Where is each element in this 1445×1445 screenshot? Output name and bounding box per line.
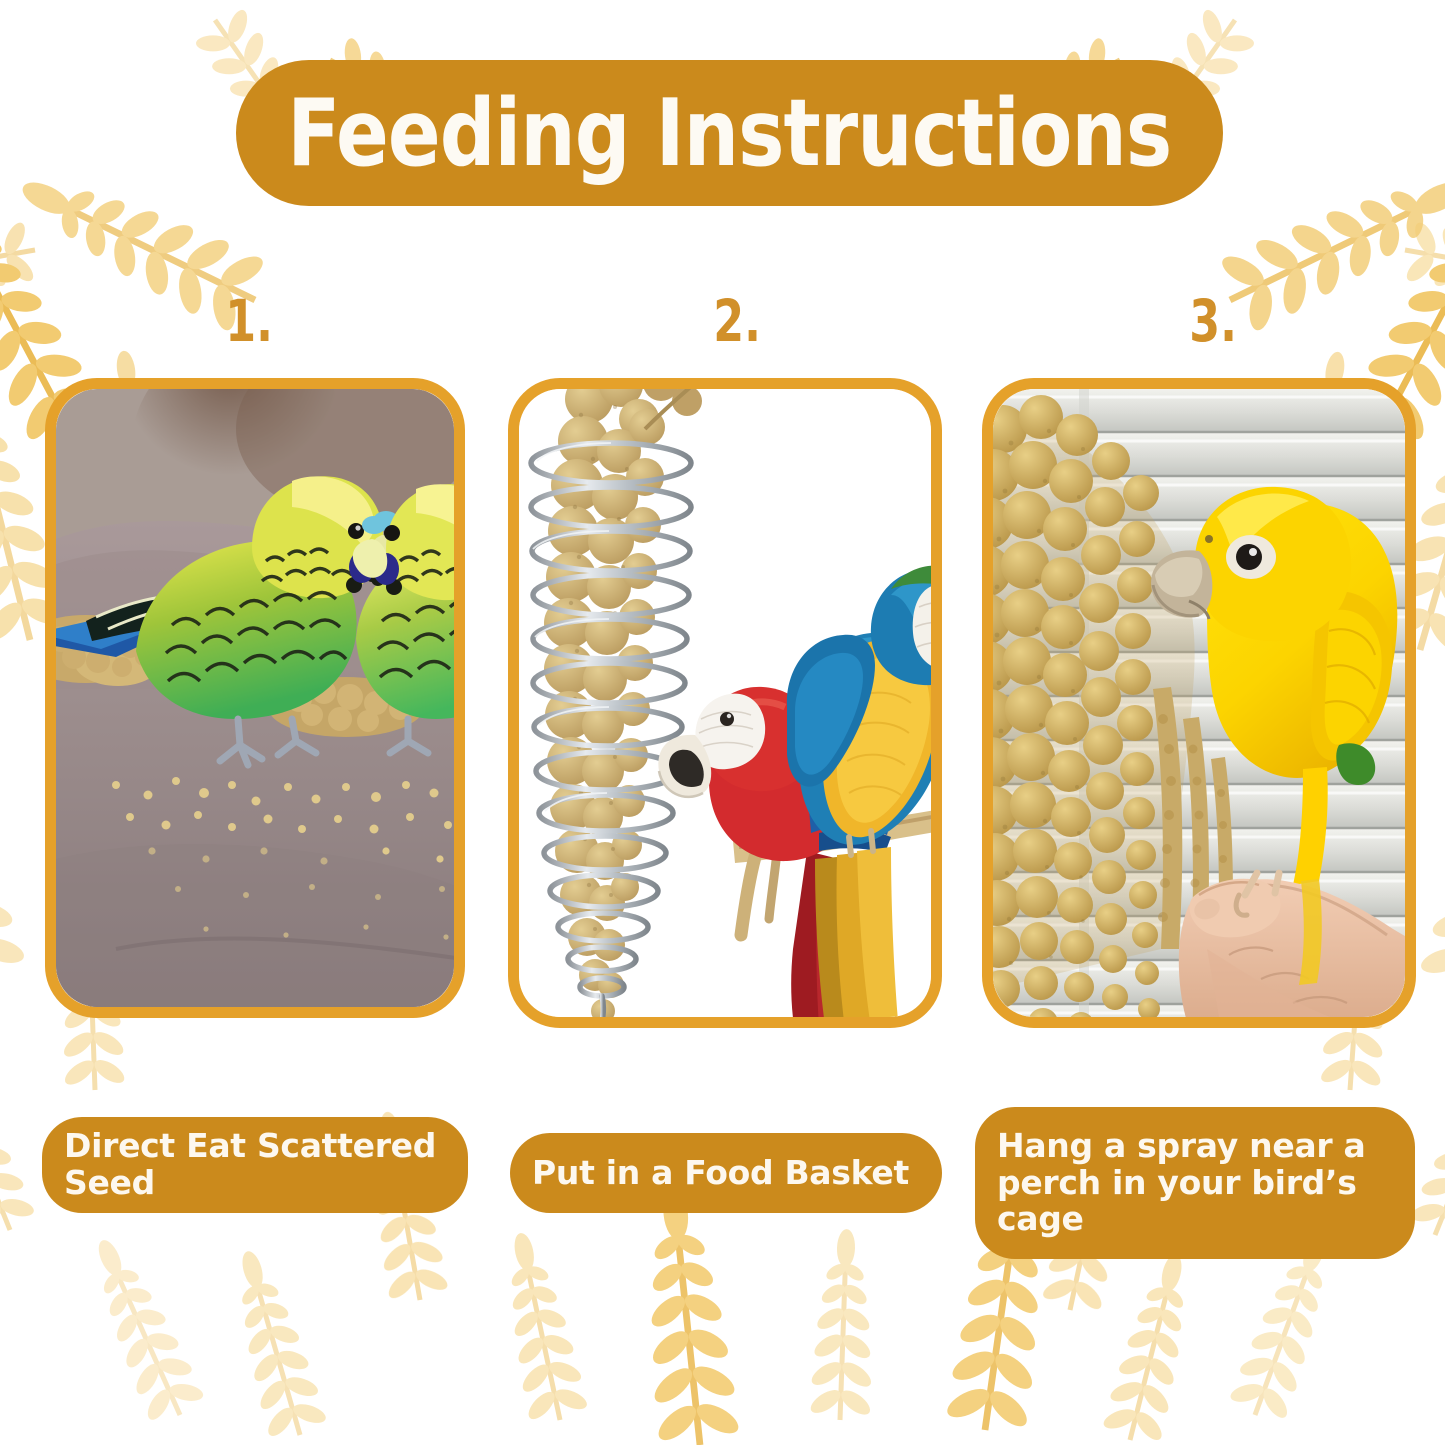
step-3-caption-text: Hang a spray near a perch in your bird’s… (997, 1128, 1393, 1239)
step-2-photo-frame (508, 378, 942, 1028)
step-number-2: 2. (713, 292, 761, 350)
infographic-root: Feeding Instructions 1. 2. 3. (0, 0, 1445, 1445)
step-2-caption-text: Put in a Food Basket (532, 1155, 909, 1192)
page-title-banner: Feeding Instructions (236, 60, 1223, 206)
food-basket-photo (519, 389, 931, 1017)
step-number-1: 1. (225, 292, 273, 350)
page-title: Feeding Instructions (287, 87, 1171, 180)
step-1-caption-text: Direct Eat Scattered Seed (64, 1128, 446, 1202)
step-number-3: 3. (1189, 292, 1237, 350)
step-3-caption: Hang a spray near a perch in your bird’s… (975, 1107, 1415, 1259)
step-1-caption: Direct Eat Scattered Seed (42, 1117, 468, 1213)
step-1-photo-frame (45, 378, 465, 1018)
budgerigars-photo (56, 389, 454, 1007)
conure-millet-photo (993, 389, 1405, 1017)
step-3-photo-frame (982, 378, 1416, 1028)
step-2-caption: Put in a Food Basket (510, 1133, 942, 1213)
